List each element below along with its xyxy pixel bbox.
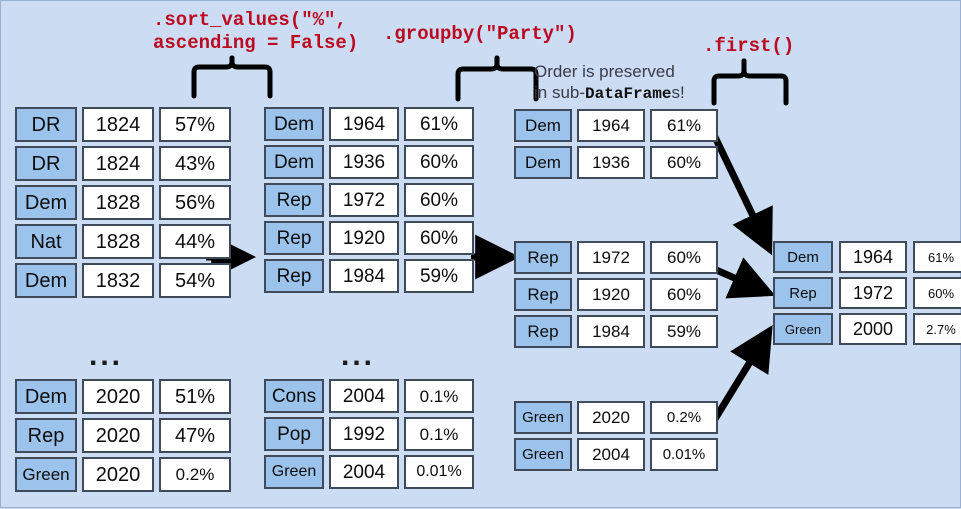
cell-party: Green — [773, 313, 833, 345]
original-dataframe-bottom: Dem 2020 51% Rep 2020 47% Green 2020 0.2… — [15, 379, 231, 496]
cell-year: 1828 — [82, 185, 154, 220]
cell-pct: 60% — [650, 146, 718, 179]
cell-year: 2004 — [577, 438, 645, 471]
cell-year: 2004 — [329, 455, 399, 489]
table-row: Green 2020 0.2% — [15, 457, 231, 496]
sorted-dataframe-bottom: Cons 2004 0.1% Pop 1992 0.1% Green 2004 … — [264, 379, 474, 493]
cell-pct: 60% — [913, 277, 961, 309]
cell-party: Cons — [264, 379, 324, 413]
table-row: Cons 2004 0.1% — [264, 379, 474, 417]
note-line-2: in sub-DataFrames! — [534, 82, 685, 105]
ellipsis-original: ... — [89, 341, 123, 371]
cell-pct: 44% — [159, 224, 231, 259]
label-groupby: .groupby("Party") — [383, 23, 577, 46]
table-row: Green 2000 2.7% — [773, 313, 961, 349]
cell-pct: 60% — [404, 183, 474, 217]
cell-pct: 60% — [650, 241, 718, 274]
cell-party: Rep — [15, 418, 77, 453]
table-row: Dem 1936 60% — [514, 146, 718, 183]
table-row: Nat 1828 44% — [15, 224, 231, 263]
table-row: Rep 2020 47% — [15, 418, 231, 457]
note-order-preserved: Order is preserved in sub-DataFrames! — [534, 61, 685, 105]
cell-pct: 57% — [159, 107, 231, 142]
table-row: Rep 1984 59% — [264, 259, 474, 297]
cell-pct: 0.2% — [159, 457, 231, 492]
cell-pct: 59% — [404, 259, 474, 293]
table-row: Dem 1964 61% — [773, 241, 961, 277]
cell-year: 1992 — [329, 417, 399, 451]
cell-year: 1984 — [329, 259, 399, 293]
original-dataframe-top: DR 1824 57% DR 1824 43% Dem 1828 56% Nat… — [15, 107, 231, 302]
cell-year: 1972 — [839, 277, 907, 309]
arrow-green-to-result — [715, 331, 769, 419]
result-dataframe: Dem 1964 61% Rep 1972 60% Green 2000 2.7… — [773, 241, 961, 349]
cell-year: 1964 — [329, 107, 399, 141]
table-row: Green 2020 0.2% — [514, 401, 718, 438]
arrow-dem-to-result — [715, 137, 769, 249]
table-row: Rep 1972 60% — [514, 241, 718, 278]
cell-year: 2000 — [839, 313, 907, 345]
table-row: DR 1824 57% — [15, 107, 231, 146]
cell-pct: 60% — [404, 145, 474, 179]
ellipsis-sorted: ... — [341, 341, 375, 371]
cell-pct: 0.1% — [404, 417, 474, 451]
cell-party: Green — [514, 401, 572, 434]
cell-party: Rep — [514, 315, 572, 348]
cell-year: 1920 — [577, 278, 645, 311]
cell-pct: 59% — [650, 315, 718, 348]
cell-pct: 60% — [404, 221, 474, 255]
cell-year: 1832 — [82, 263, 154, 298]
cell-party: Rep — [264, 259, 324, 293]
group-rep: Rep 1972 60% Rep 1920 60% Rep 1984 59% — [514, 241, 718, 352]
cell-pct: 51% — [159, 379, 231, 414]
cell-party: Dem — [15, 379, 77, 414]
cell-party: DR — [15, 146, 77, 181]
cell-party: Dem — [773, 241, 833, 273]
cell-party: Dem — [15, 263, 77, 298]
cell-pct: 54% — [159, 263, 231, 298]
cell-party: Dem — [514, 109, 572, 142]
cell-pct: 61% — [650, 109, 718, 142]
cell-year: 1824 — [82, 146, 154, 181]
cell-year: 1972 — [329, 183, 399, 217]
table-row: Pop 1992 0.1% — [264, 417, 474, 455]
table-row: Rep 1920 60% — [264, 221, 474, 259]
cell-year: 1936 — [577, 146, 645, 179]
cell-party: Dem — [264, 107, 324, 141]
table-row: Rep 1984 59% — [514, 315, 718, 352]
cell-pct: 0.1% — [404, 379, 474, 413]
table-row: Rep 1920 60% — [514, 278, 718, 315]
cell-year: 2020 — [577, 401, 645, 434]
cell-year: 2004 — [329, 379, 399, 413]
cell-party: Green — [264, 455, 324, 489]
cell-pct: 43% — [159, 146, 231, 181]
cell-year: 1964 — [577, 109, 645, 142]
cell-pct: 0.2% — [650, 401, 718, 434]
cell-pct: 0.01% — [650, 438, 718, 471]
cell-party: DR — [15, 107, 77, 142]
table-row: Rep 1972 60% — [773, 277, 961, 313]
cell-year: 1972 — [577, 241, 645, 274]
cell-party: Rep — [773, 277, 833, 309]
cell-pct: 2.7% — [913, 313, 961, 345]
label-sort-values: .sort_values("%", ascending = False) — [153, 9, 358, 55]
table-row: Dem 1936 60% — [264, 145, 474, 183]
cell-pct: 47% — [159, 418, 231, 453]
table-row: Dem 1964 61% — [514, 109, 718, 146]
cell-party: Rep — [514, 241, 572, 274]
sorted-dataframe-top: Dem 1964 61% Dem 1936 60% Rep 1972 60% R… — [264, 107, 474, 297]
cell-party: Nat — [15, 224, 77, 259]
cell-year: 2020 — [82, 457, 154, 492]
table-row: Dem 1832 54% — [15, 263, 231, 302]
cell-party: Pop — [264, 417, 324, 451]
cell-party: Dem — [15, 185, 77, 220]
note-line-2-post: s! — [671, 83, 684, 102]
note-dataframe-keyword: DataFrame — [585, 85, 671, 103]
cell-year: 1824 — [82, 107, 154, 142]
table-row: DR 1824 43% — [15, 146, 231, 185]
cell-party: Green — [15, 457, 77, 492]
cell-party: Dem — [264, 145, 324, 179]
brace-first — [714, 61, 786, 103]
cell-year: 1964 — [839, 241, 907, 273]
group-green: Green 2020 0.2% Green 2004 0.01% — [514, 401, 718, 475]
cell-party: Green — [514, 438, 572, 471]
cell-year: 1936 — [329, 145, 399, 179]
cell-party: Rep — [264, 183, 324, 217]
table-row: Dem 2020 51% — [15, 379, 231, 418]
cell-year: 1920 — [329, 221, 399, 255]
table-row: Green 2004 0.01% — [514, 438, 718, 475]
cell-year: 2020 — [82, 418, 154, 453]
brace-sort-values — [194, 58, 270, 96]
cell-year: 1984 — [577, 315, 645, 348]
diagram-canvas: .sort_values("%", ascending = False) .gr… — [1, 1, 961, 509]
note-line-2-pre: in sub- — [534, 83, 585, 102]
cell-pct: 60% — [650, 278, 718, 311]
table-row: Dem 1964 61% — [264, 107, 474, 145]
note-line-1: Order is preserved — [534, 61, 685, 82]
cell-year: 1828 — [82, 224, 154, 259]
table-row: Green 2004 0.01% — [264, 455, 474, 493]
table-row: Dem 1828 56% — [15, 185, 231, 224]
cell-pct: 61% — [913, 241, 961, 273]
group-dem: Dem 1964 61% Dem 1936 60% — [514, 109, 718, 183]
cell-party: Rep — [514, 278, 572, 311]
brace-groupby — [458, 58, 536, 99]
table-row: Rep 1972 60% — [264, 183, 474, 221]
cell-pct: 56% — [159, 185, 231, 220]
cell-pct: 61% — [404, 107, 474, 141]
cell-party: Dem — [514, 146, 572, 179]
cell-pct: 0.01% — [404, 455, 474, 489]
cell-party: Rep — [264, 221, 324, 255]
cell-year: 2020 — [82, 379, 154, 414]
label-first: .first() — [703, 35, 794, 58]
